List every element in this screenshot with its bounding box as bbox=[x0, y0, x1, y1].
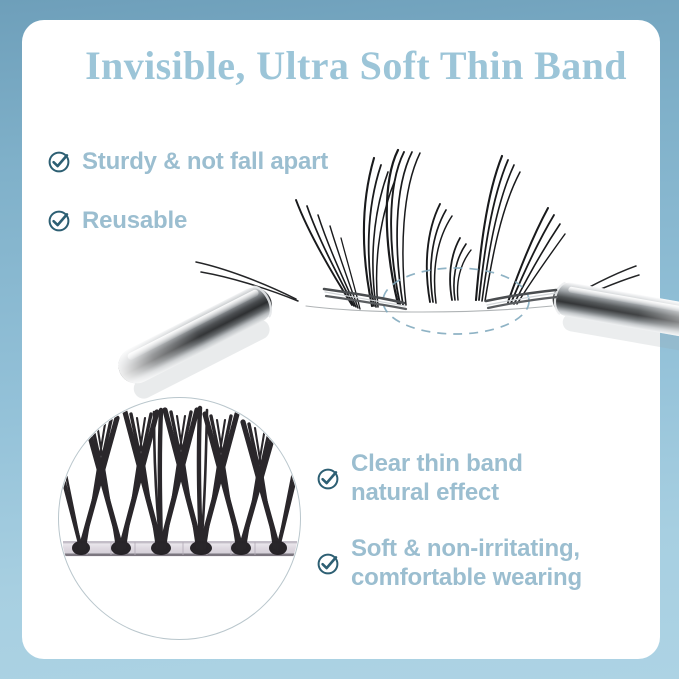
check-circle-icon bbox=[316, 552, 340, 576]
check-circle-icon bbox=[47, 209, 71, 233]
check-circle-icon bbox=[316, 467, 340, 491]
magnified-lash-band-closeup bbox=[58, 397, 301, 640]
feature-item-soft-non-irritating: Soft & non-irritating, comfortable weari… bbox=[316, 535, 582, 593]
feature-label: Soft & non-irritating, comfortable weari… bbox=[351, 535, 582, 593]
check-circle-icon bbox=[47, 150, 71, 174]
clear-band-strip bbox=[63, 541, 297, 556]
page-title: Invisible, Ultra Soft Thin Band bbox=[66, 42, 646, 89]
feature-item-sturdy: Sturdy & not fall apart bbox=[47, 148, 328, 177]
feature-item-reusable: Reusable bbox=[47, 207, 187, 236]
feature-label: Clear thin band natural effect bbox=[351, 450, 523, 508]
feature-label: Sturdy & not fall apart bbox=[82, 148, 328, 177]
product-infographic: Invisible, Ultra Soft Thin Band bbox=[0, 0, 679, 679]
feature-item-clear-thin-band: Clear thin band natural effect bbox=[316, 450, 523, 508]
feature-label: Reusable bbox=[82, 207, 187, 236]
